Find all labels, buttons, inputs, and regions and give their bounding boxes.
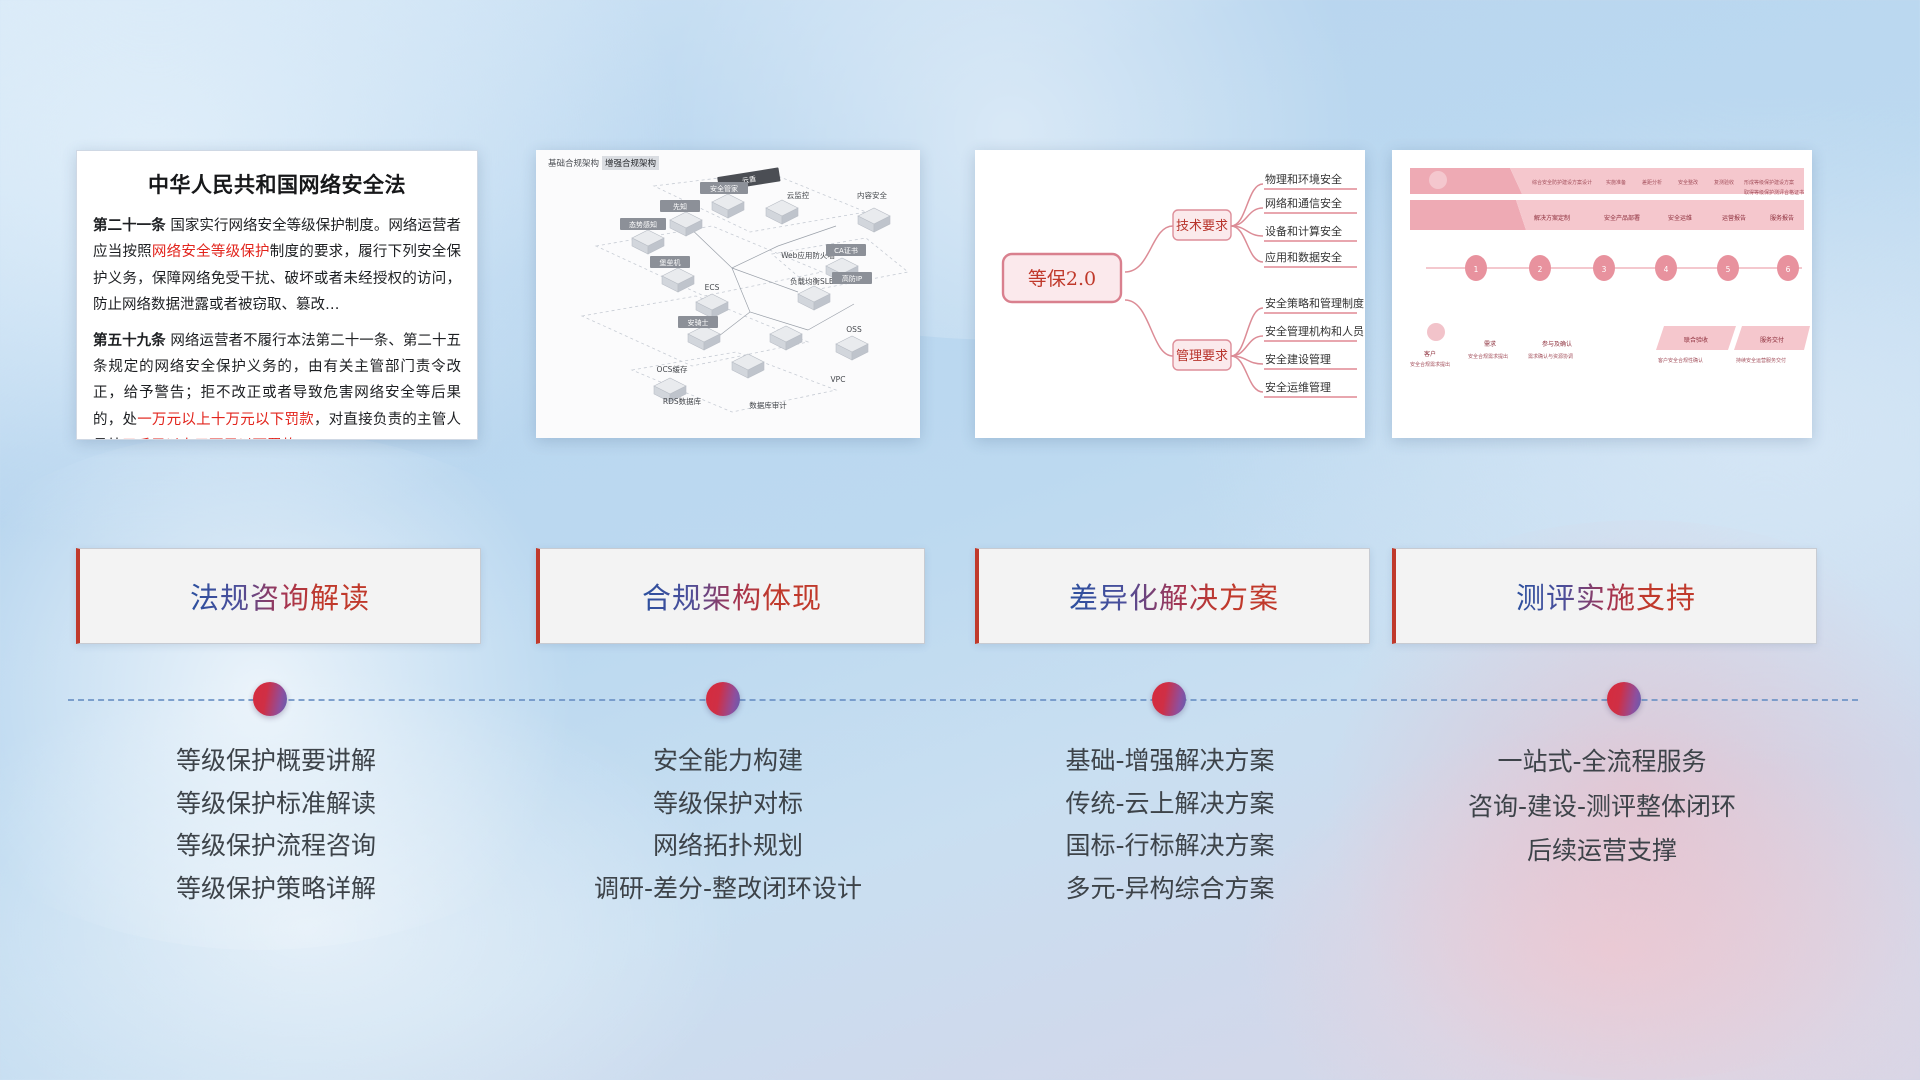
svg-text:RDS数据库: RDS数据库 — [663, 396, 702, 406]
svg-text:1: 1 — [1474, 265, 1479, 274]
timeline-dashed-line — [68, 699, 1858, 701]
svg-text:物理和环境安全: 物理和环境安全 — [1265, 172, 1342, 186]
pillar-list-4: 一站式-全流程服务 咨询-建设-测评整体闭环 后续运营支撑 — [1392, 740, 1812, 874]
pillar-list-3: 基础-增强解决方案 传统-云上解决方案 国标-行标解决方案 多元-异构综合方案 — [975, 740, 1365, 910]
svg-text:运营报告: 运营报告 — [1722, 214, 1746, 222]
list-item: 等级保护流程咨询 — [76, 825, 476, 868]
svg-text:云监控: 云监控 — [787, 190, 810, 200]
svg-text:需求: 需求 — [1484, 340, 1496, 348]
list-item: 传统-云上解决方案 — [975, 783, 1365, 826]
svg-text:态势感知: 态势感知 — [629, 220, 657, 229]
timeline-dot-4[interactable] — [1607, 682, 1641, 716]
svg-text:网络和通信安全: 网络和通信安全 — [1265, 196, 1342, 210]
svg-text:设备和计算安全: 设备和计算安全 — [1265, 224, 1342, 238]
compliance-architecture-card[interactable]: 基础合规架构增强合规架构 — [536, 150, 920, 438]
list-item: 后续运营支撑 — [1392, 829, 1812, 874]
svg-text:安全合规需求提出: 安全合规需求提出 — [1468, 353, 1508, 360]
mindmap-branch-label: 管理要求 — [1176, 349, 1228, 364]
timeline-dot-3[interactable] — [1152, 682, 1186, 716]
pillar-banners-row: 法规咨询解读 合规架构体现 差异化解决方案 测评实施支持 — [0, 548, 1920, 642]
list-item: 网络拓扑规划 — [536, 825, 920, 868]
nsfocus-customer-label: 客户 — [1424, 350, 1436, 358]
pillar-banner-label: 差异化解决方案 — [1069, 575, 1279, 617]
nsfocus-svg: NSFOCUS 安全专家 综合安全防护建设方案设计 实施准备 差距分析 安全整改… — [1392, 150, 1812, 438]
nsfocus-customer-sub: 安全合规需求提出 — [1410, 361, 1450, 368]
list-item: 等级保护策略详解 — [76, 868, 476, 911]
svg-text:OCS缓存: OCS缓存 — [657, 364, 688, 374]
pillar-lists-row: 等级保护概要讲解 等级保护标准解读 等级保护流程咨询 等级保护策略详解 安全能力… — [0, 740, 1920, 980]
svg-text:ECS: ECS — [705, 283, 720, 292]
list-item: 安全能力构建 — [536, 740, 920, 783]
svg-text:6: 6 — [1786, 265, 1791, 274]
pillar-banner-4[interactable]: 测评实施支持 — [1392, 548, 1817, 644]
law-document-card[interactable]: 中华人民共和国网络安全法 第二十一条 国家实行网络安全等级保护制度。网络运营者应… — [76, 150, 478, 440]
svg-text:5: 5 — [1726, 265, 1731, 274]
dengbao-mindmap-card[interactable]: 等保2.0 技术要求 管理要求 物理和环境安全 网络和通信安全 设备和计算安全 … — [975, 150, 1365, 438]
svg-text:高防IP: 高防IP — [842, 274, 862, 283]
law-title: 中华人民共和国网络安全法 — [77, 169, 477, 199]
pillar-list-1: 等级保护概要讲解 等级保护标准解读 等级保护流程咨询 等级保护策略详解 — [76, 740, 476, 910]
list-item: 一站式-全流程服务 — [1392, 740, 1812, 785]
svg-text:2: 2 — [1538, 265, 1543, 274]
mindmap-core-label: 等保2.0 — [1028, 268, 1096, 290]
svg-text:安全管家: 安全管家 — [710, 184, 738, 193]
svg-text:安骑士: 安骑士 — [688, 318, 709, 327]
svg-text:安全产品部署: 安全产品部署 — [1604, 214, 1640, 222]
nsfocus-bottom-labels: 需求 安全合规需求提出 参与及确认 需求确认与资源协调 联合验收 客户安全合规性… — [1468, 326, 1810, 364]
mindmap-leaves: 物理和环境安全 网络和通信安全 设备和计算安全 应用和数据安全 安全策略和管理制… — [1264, 172, 1364, 397]
pillar-banner-3[interactable]: 差异化解决方案 — [975, 548, 1370, 644]
nsfocus-flow: NSFOCUS 安全专家 综合安全防护建设方案设计 实施准备 差距分析 安全整改… — [1392, 150, 1812, 438]
svg-text:客户安全合规性确认: 客户安全合规性确认 — [1658, 357, 1703, 364]
list-item: 国标-行标解决方案 — [975, 825, 1365, 868]
list-item: 基础-增强解决方案 — [975, 740, 1365, 783]
svg-text:联合验收: 联合验收 — [1684, 336, 1708, 344]
svg-text:安全策略和管理制度: 安全策略和管理制度 — [1265, 296, 1364, 310]
svg-text:先知: 先知 — [673, 202, 687, 211]
mindmap-branch-label: 技术要求 — [1176, 219, 1228, 234]
nsfocus-service-flow-card[interactable]: NSFOCUS 安全专家 综合安全防护建设方案设计 实施准备 差距分析 安全整改… — [1392, 150, 1812, 438]
timeline-dot-2[interactable] — [706, 682, 740, 716]
pillar-banner-label: 合规架构体现 — [642, 575, 822, 617]
svg-text:安全运维: 安全运维 — [1668, 214, 1692, 222]
svg-text:4: 4 — [1664, 265, 1669, 274]
pillar-banner-label: 法规咨询解读 — [190, 575, 370, 617]
svg-text:CA证书: CA证书 — [834, 246, 858, 255]
list-item: 咨询-建设-测评整体闭环 — [1392, 785, 1812, 830]
svg-text:负载均衡SLB: 负载均衡SLB — [790, 276, 834, 286]
list-item: 调研-差分-整改闭环设计 — [536, 868, 920, 911]
svg-text:差距分析: 差距分析 — [1642, 179, 1662, 186]
law-run-highlight: 一万元以上十万元以下罚款 — [137, 412, 314, 428]
node-labels: 态势感知 先知 安全管家 堡垒机 ECS 安骑士 OCS缓存 RDS数据库 数据… — [620, 182, 887, 410]
svg-text:3: 3 — [1602, 265, 1607, 274]
architecture-svg: 云盾 态势感知 先知 安全管家 堡垒机 ECS 安骑士 OCS缓存 RDS数据库… — [536, 150, 920, 438]
svg-text:安全运维管理: 安全运维管理 — [1265, 380, 1331, 394]
law-paragraph: 第二十一条 国家实行网络安全等级保护制度。网络运营者应当按照网络安全等级保护制度… — [93, 213, 461, 319]
svg-text:内容安全: 内容安全 — [857, 190, 887, 200]
svg-text:服务交付: 服务交付 — [1760, 336, 1784, 344]
svg-text:持续安全运营服务交付: 持续安全运营服务交付 — [1736, 357, 1786, 364]
svg-text:安全建设管理: 安全建设管理 — [1265, 352, 1331, 366]
svg-text:服务报告: 服务报告 — [1770, 214, 1794, 222]
svg-text:安全整改: 安全整改 — [1678, 179, 1698, 186]
law-run-highlight: 五千元以上五万元以下罚款。 — [122, 438, 311, 440]
svg-text:复测验收: 复测验收 — [1714, 179, 1734, 186]
svg-text:综合安全防护建设方案设计: 综合安全防护建设方案设计 — [1532, 179, 1592, 186]
pillar-banner-1[interactable]: 法规咨询解读 — [76, 548, 481, 644]
mindmap-svg: 等保2.0 技术要求 管理要求 物理和环境安全 网络和通信安全 设备和计算安全 … — [975, 150, 1365, 438]
preview-cards-row: 中华人民共和国网络安全法 第二十一条 国家实行网络安全等级保护制度。网络运营者应… — [0, 150, 1920, 450]
list-item: 等级保护对标 — [536, 783, 920, 826]
pillar-list-2: 安全能力构建 等级保护对标 网络拓扑规划 调研-差分-整改闭环设计 — [536, 740, 920, 910]
svg-text:OSS: OSS — [846, 325, 862, 334]
law-run-highlight: 网络安全等级保护 — [152, 244, 270, 260]
svg-text:堡垒机: 堡垒机 — [660, 258, 681, 267]
mindmap: 等保2.0 技术要求 管理要求 物理和环境安全 网络和通信安全 设备和计算安全 … — [975, 150, 1365, 438]
list-item: 等级保护概要讲解 — [76, 740, 476, 783]
pillar-banner-2[interactable]: 合规架构体现 — [536, 548, 925, 644]
svg-text:实施准备: 实施准备 — [1606, 179, 1626, 186]
svg-text:安全管理机构和人员: 安全管理机构和人员 — [1265, 324, 1364, 338]
law-article-label: 第二十一条 — [93, 218, 166, 234]
timeline-dot-1[interactable] — [253, 682, 287, 716]
architecture-diagram: 基础合规架构增强合规架构 — [536, 150, 920, 438]
svg-text:形成等级保护建设方案: 形成等级保护建设方案 — [1744, 179, 1794, 186]
svg-text:参与及确认: 参与及确认 — [1542, 340, 1572, 348]
svg-text:需求确认与资源协调: 需求确认与资源协调 — [1528, 353, 1573, 360]
svg-text:应用和数据安全: 应用和数据安全 — [1265, 250, 1342, 264]
list-item: 多元-异构综合方案 — [975, 868, 1365, 911]
law-article-label: 第五十九条 — [93, 333, 166, 349]
svg-text:解决方案定制: 解决方案定制 — [1534, 214, 1570, 222]
law-paragraph: 第五十九条 网络运营者不履行本法第二十一条、第二十五条规定的网络安全保护义务的，… — [93, 328, 461, 441]
svg-text:取得等级保护测评合格证书: 取得等级保护测评合格证书 — [1744, 189, 1804, 196]
pillar-banner-label: 测评实施支持 — [1516, 575, 1696, 617]
svg-text:数据库审计: 数据库审计 — [749, 400, 787, 410]
svg-text:VPC: VPC — [831, 375, 846, 384]
list-item: 等级保护标准解读 — [76, 783, 476, 826]
